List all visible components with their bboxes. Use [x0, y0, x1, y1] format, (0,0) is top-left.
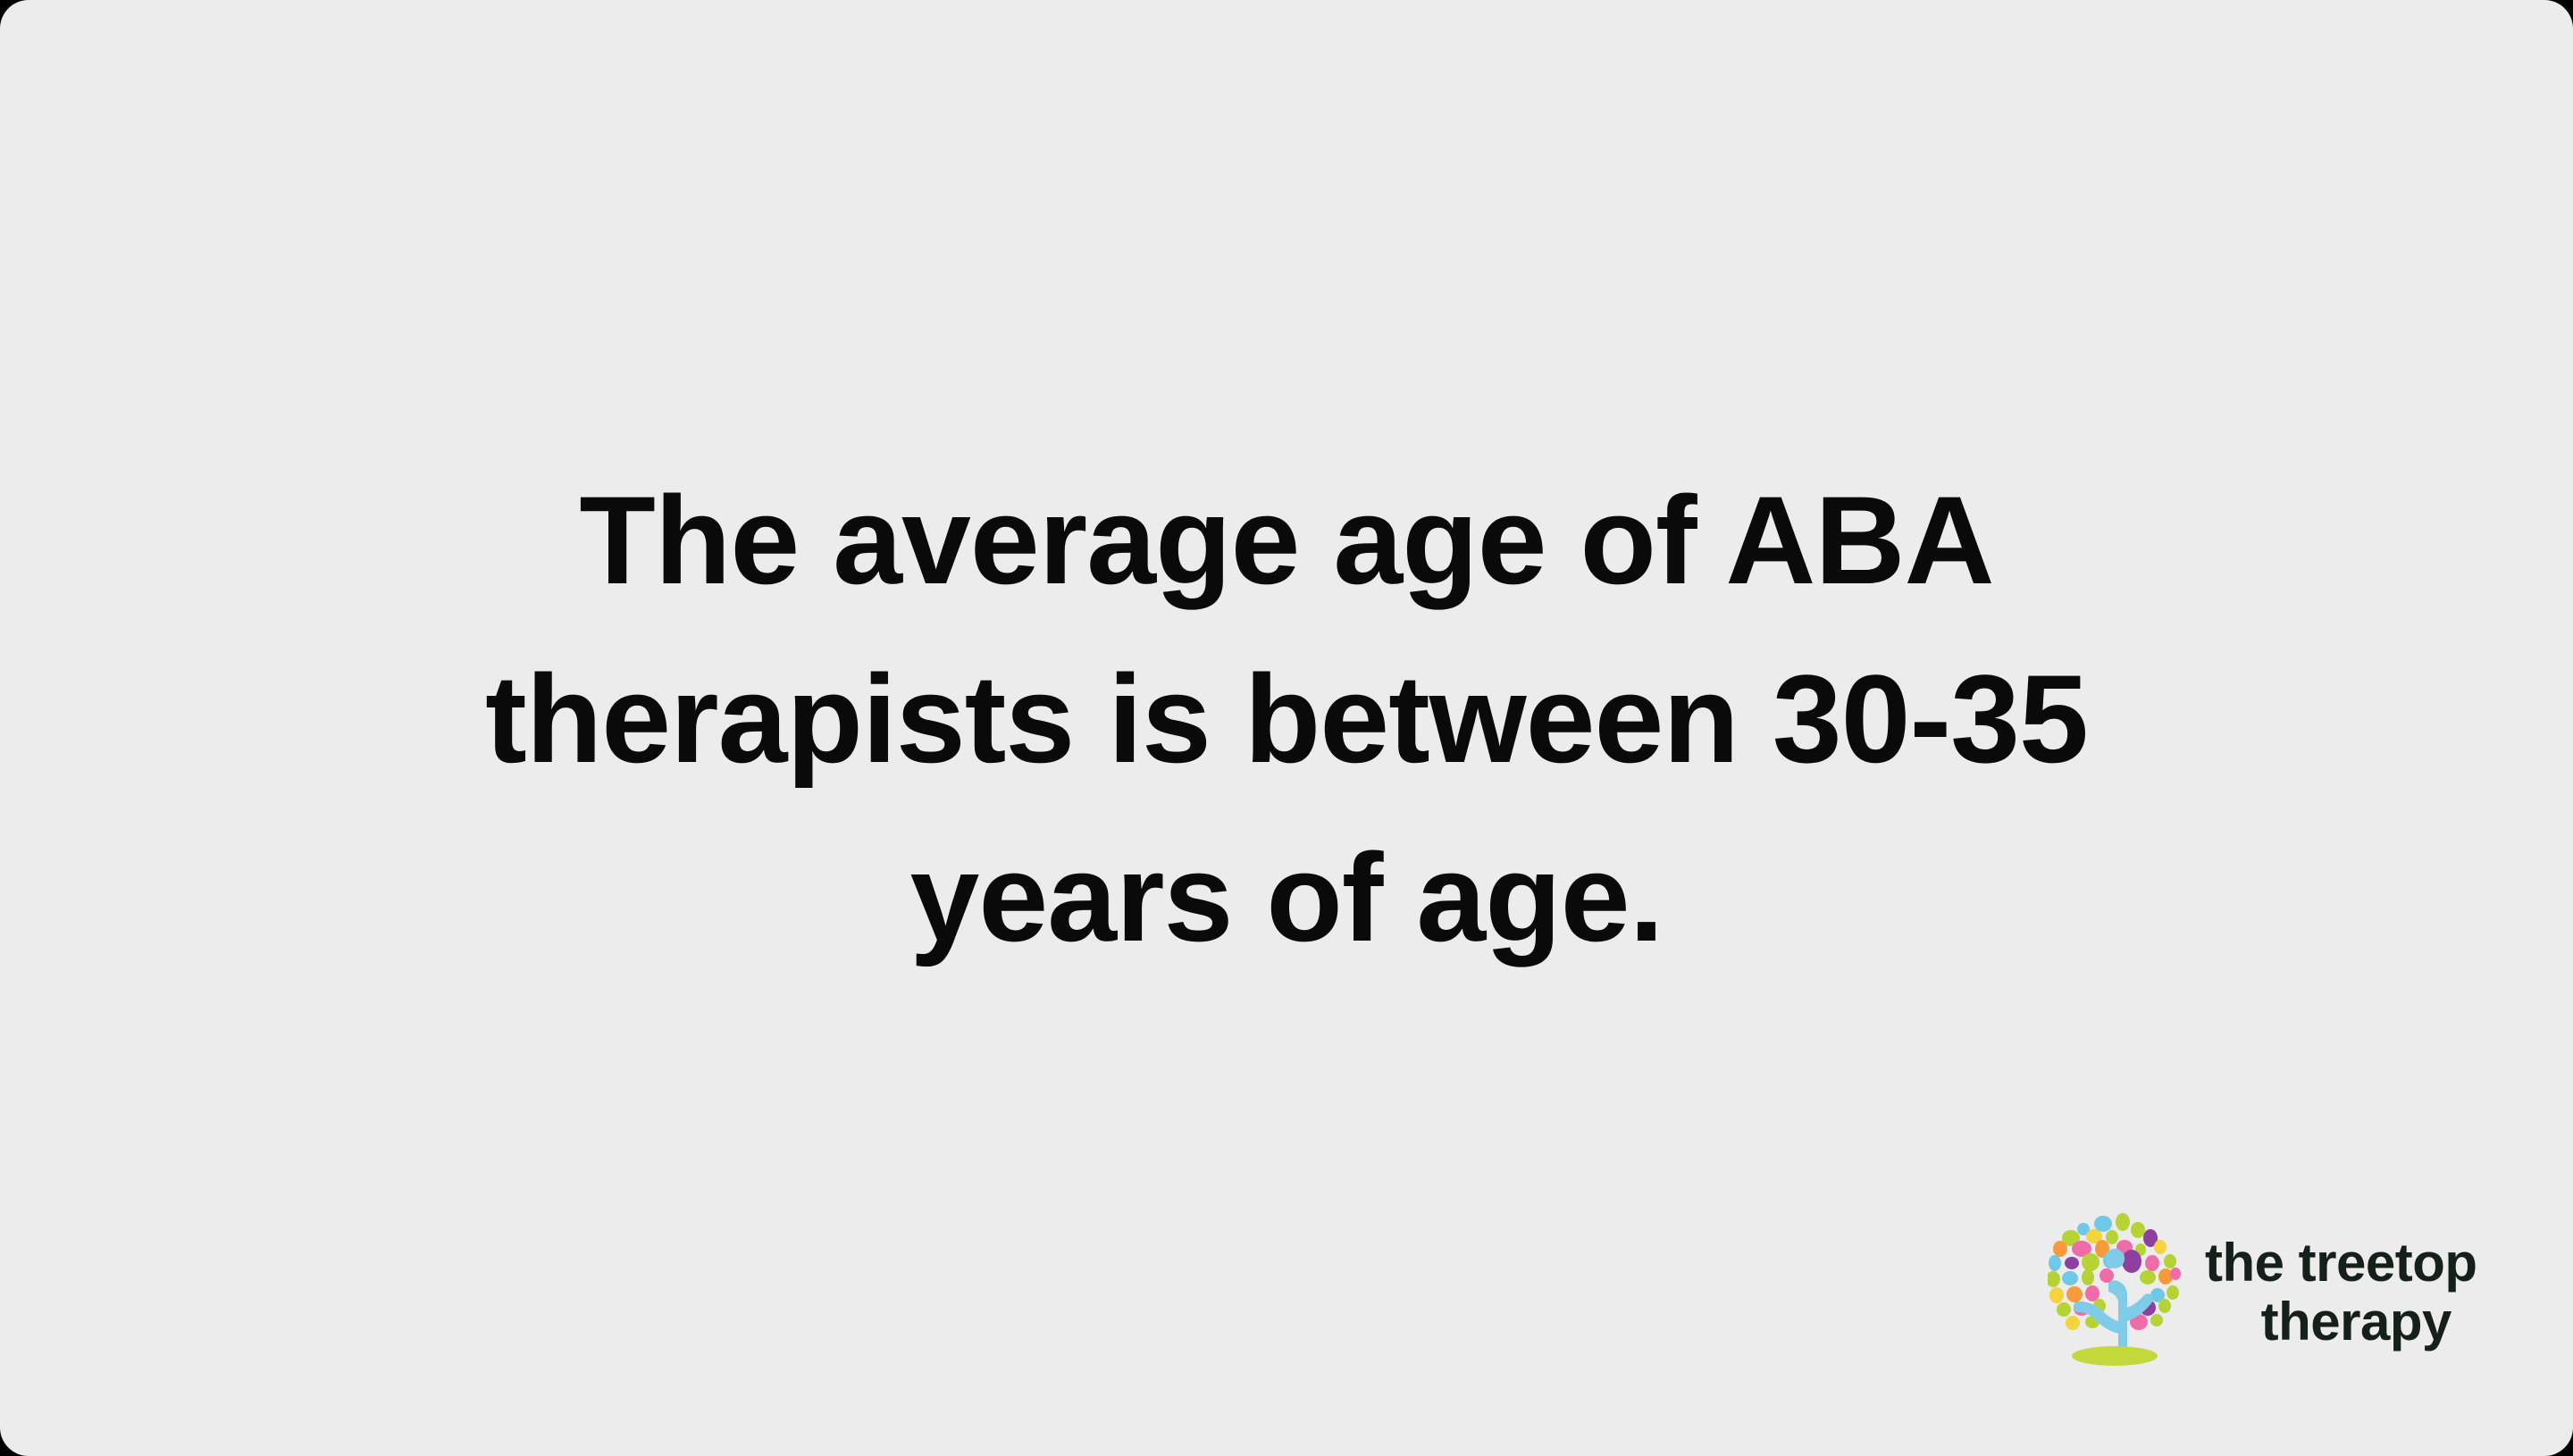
page-title: The average age of ABA therapists is bet…	[322, 451, 2251, 987]
treetop-tree-icon	[2048, 1213, 2182, 1367]
headline-line-1: The average age of ABA	[322, 451, 2251, 630]
canopy-dots	[2048, 1213, 2181, 1330]
ground-ellipse	[2072, 1346, 2158, 1366]
fact-card: The average age of ABA therapists is bet…	[0, 0, 2573, 1456]
brand-logo-lockup: the treetop therapy	[2048, 1213, 2537, 1367]
headline-line-3: years of age.	[322, 808, 2251, 987]
wordmark-line-2: therapy	[2205, 1293, 2477, 1351]
wordmark-line-1: the treetop	[2205, 1234, 2477, 1293]
headline-line-2: therapists is between 30-35	[322, 630, 2251, 808]
brand-wordmark: the treetop therapy	[2205, 1228, 2477, 1351]
